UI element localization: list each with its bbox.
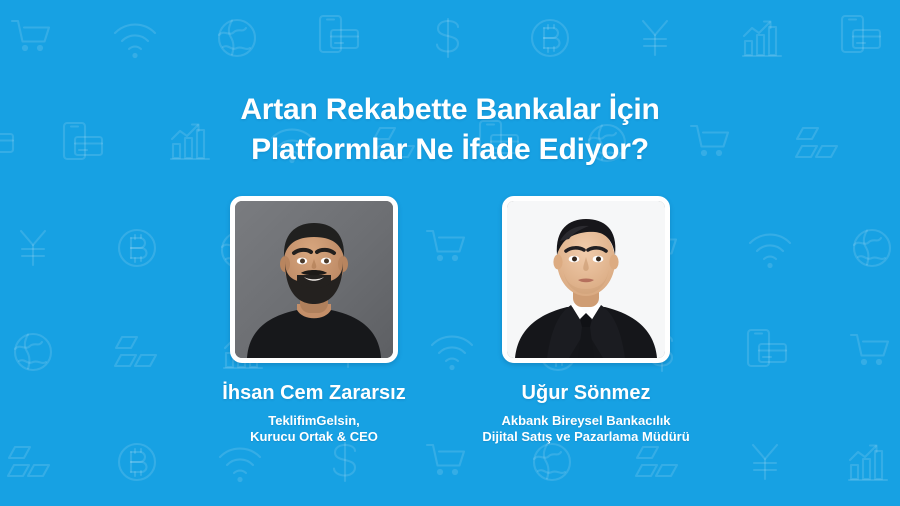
speaker-photo-frame-1: [230, 196, 398, 363]
slide-title-line-1: Artan Rekabette Bankalar İçin: [0, 90, 900, 130]
speaker-photo-frame-2: [502, 196, 670, 363]
speaker-card-2: Uğur Sönmez Akbank Bireysel Bankacılık D…: [501, 196, 671, 445]
presentation-slide: Artan Rekabette Bankalar İçin Platformla…: [0, 0, 900, 506]
slide-title-line-2: Platformlar Ne İfade Ediyor?: [0, 130, 900, 170]
speaker-role-1: TeklifimGelsin, Kurucu Ortak & CEO: [250, 413, 378, 445]
speaker-list: İhsan Cem Zararsız TeklifimGelsin, Kuruc…: [0, 196, 900, 445]
speaker-role-2-line-2: Dijital Satış ve Pazarlama Müdürü: [482, 429, 689, 445]
speaker-role-2: Akbank Bireysel Bankacılık Dijital Satış…: [482, 413, 689, 445]
speaker-card-1: İhsan Cem Zararsız TeklifimGelsin, Kuruc…: [229, 196, 399, 445]
speaker-photo-1: [235, 201, 393, 358]
slide-title: Artan Rekabette Bankalar İçin Platformla…: [0, 90, 900, 170]
speaker-name-1: İhsan Cem Zararsız: [222, 382, 405, 404]
speaker-role-1-line-1: TeklifimGelsin,: [250, 413, 378, 429]
speaker-name-2: Uğur Sönmez: [522, 382, 651, 404]
speaker-role-2-line-1: Akbank Bireysel Bankacılık: [482, 413, 689, 429]
speaker-photo-2: [507, 201, 665, 358]
speaker-role-1-line-2: Kurucu Ortak & CEO: [250, 429, 378, 445]
